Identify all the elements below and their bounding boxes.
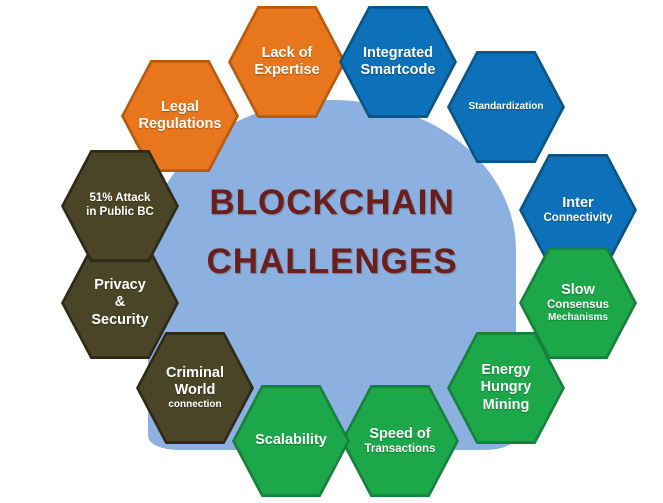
- hex-node-lack-of-expertise[interactable]: Lack of Expertise: [228, 3, 346, 121]
- hex-label: 51% Attack in Public BC: [79, 192, 161, 219]
- hex-label-line: Hungry: [481, 379, 532, 396]
- hex-label: Scalability: [248, 432, 334, 449]
- hex-label: Inter Connectivity: [536, 195, 619, 226]
- hex-label-line: Inter: [543, 195, 612, 212]
- hex-label-line: 51% Attack: [86, 192, 154, 206]
- hex-label: Lack of Expertise: [247, 45, 326, 79]
- hex-label: Integrated Smartcode: [354, 45, 443, 79]
- hex-label-line: connection: [166, 399, 224, 411]
- hex-label-line: Scalability: [255, 432, 327, 449]
- hex-label-line: Expertise: [254, 62, 319, 79]
- center-title-line-2: CHALLENGES: [148, 244, 516, 279]
- hex-body: Lack of Expertise: [231, 6, 343, 118]
- center-title-line-1: BLOCKCHAIN: [148, 185, 516, 220]
- hex-label-line: Mining: [481, 397, 532, 414]
- blockchain-challenges-diagram: BLOCKCHAIN CHALLENGES Legal Regulations …: [0, 0, 663, 503]
- hex-label: Legal Regulations: [132, 99, 229, 133]
- hex-body: 51% Attack in Public BC: [64, 150, 176, 262]
- hex-label-line: Legal: [139, 99, 222, 116]
- hex-label-line: Privacy: [91, 277, 148, 294]
- hex-label-line: Standardization: [468, 101, 543, 113]
- hex-label-line: Energy: [481, 362, 532, 379]
- hex-label-line: Slow: [547, 282, 609, 299]
- hex-label-line: Security: [91, 312, 148, 329]
- hex-body: Speed of Transactions: [344, 385, 456, 497]
- hex-label-line: Smartcode: [361, 62, 436, 79]
- hex-label-line: &: [91, 294, 148, 311]
- hex-node-energy-hungry-mining[interactable]: Energy Hungry Mining: [447, 329, 565, 447]
- hex-body: Standardization: [450, 51, 562, 163]
- hex-body: Energy Hungry Mining: [450, 332, 562, 444]
- hex-label-line: Connectivity: [543, 212, 612, 226]
- diagram-center-title: BLOCKCHAIN CHALLENGES: [148, 185, 516, 279]
- hex-node-standardization[interactable]: Standardization: [447, 48, 565, 166]
- hex-label: Privacy & Security: [84, 277, 155, 328]
- hex-label: Criminal World connection: [159, 365, 231, 411]
- hex-label-line: Transactions: [365, 443, 436, 457]
- hex-node-51-percent-attack-in-public-bc[interactable]: 51% Attack in Public BC: [61, 147, 179, 265]
- hex-label-line: Criminal: [166, 365, 224, 382]
- hex-label: Standardization: [461, 101, 550, 113]
- hex-label-line: Integrated: [361, 45, 436, 62]
- hex-label-line: Consensus: [547, 299, 609, 313]
- hex-label-line: Regulations: [139, 116, 222, 133]
- hex-label-line: Speed of: [365, 426, 436, 443]
- hex-body: Integrated Smartcode: [342, 6, 454, 118]
- hex-node-speed-of-transactions[interactable]: Speed of Transactions: [341, 382, 459, 500]
- hex-label-line: Lack of: [254, 45, 319, 62]
- hex-label-line: in Public BC: [86, 206, 154, 220]
- hex-label-line: World: [166, 382, 224, 399]
- hex-label: Slow Consensus Mechanisms: [540, 282, 616, 324]
- hex-label: Speed of Transactions: [358, 426, 443, 457]
- hex-node-integrated-smartcode[interactable]: Integrated Smartcode: [339, 3, 457, 121]
- hex-label: Energy Hungry Mining: [474, 362, 539, 413]
- hex-label-line: Mechanisms: [547, 312, 609, 324]
